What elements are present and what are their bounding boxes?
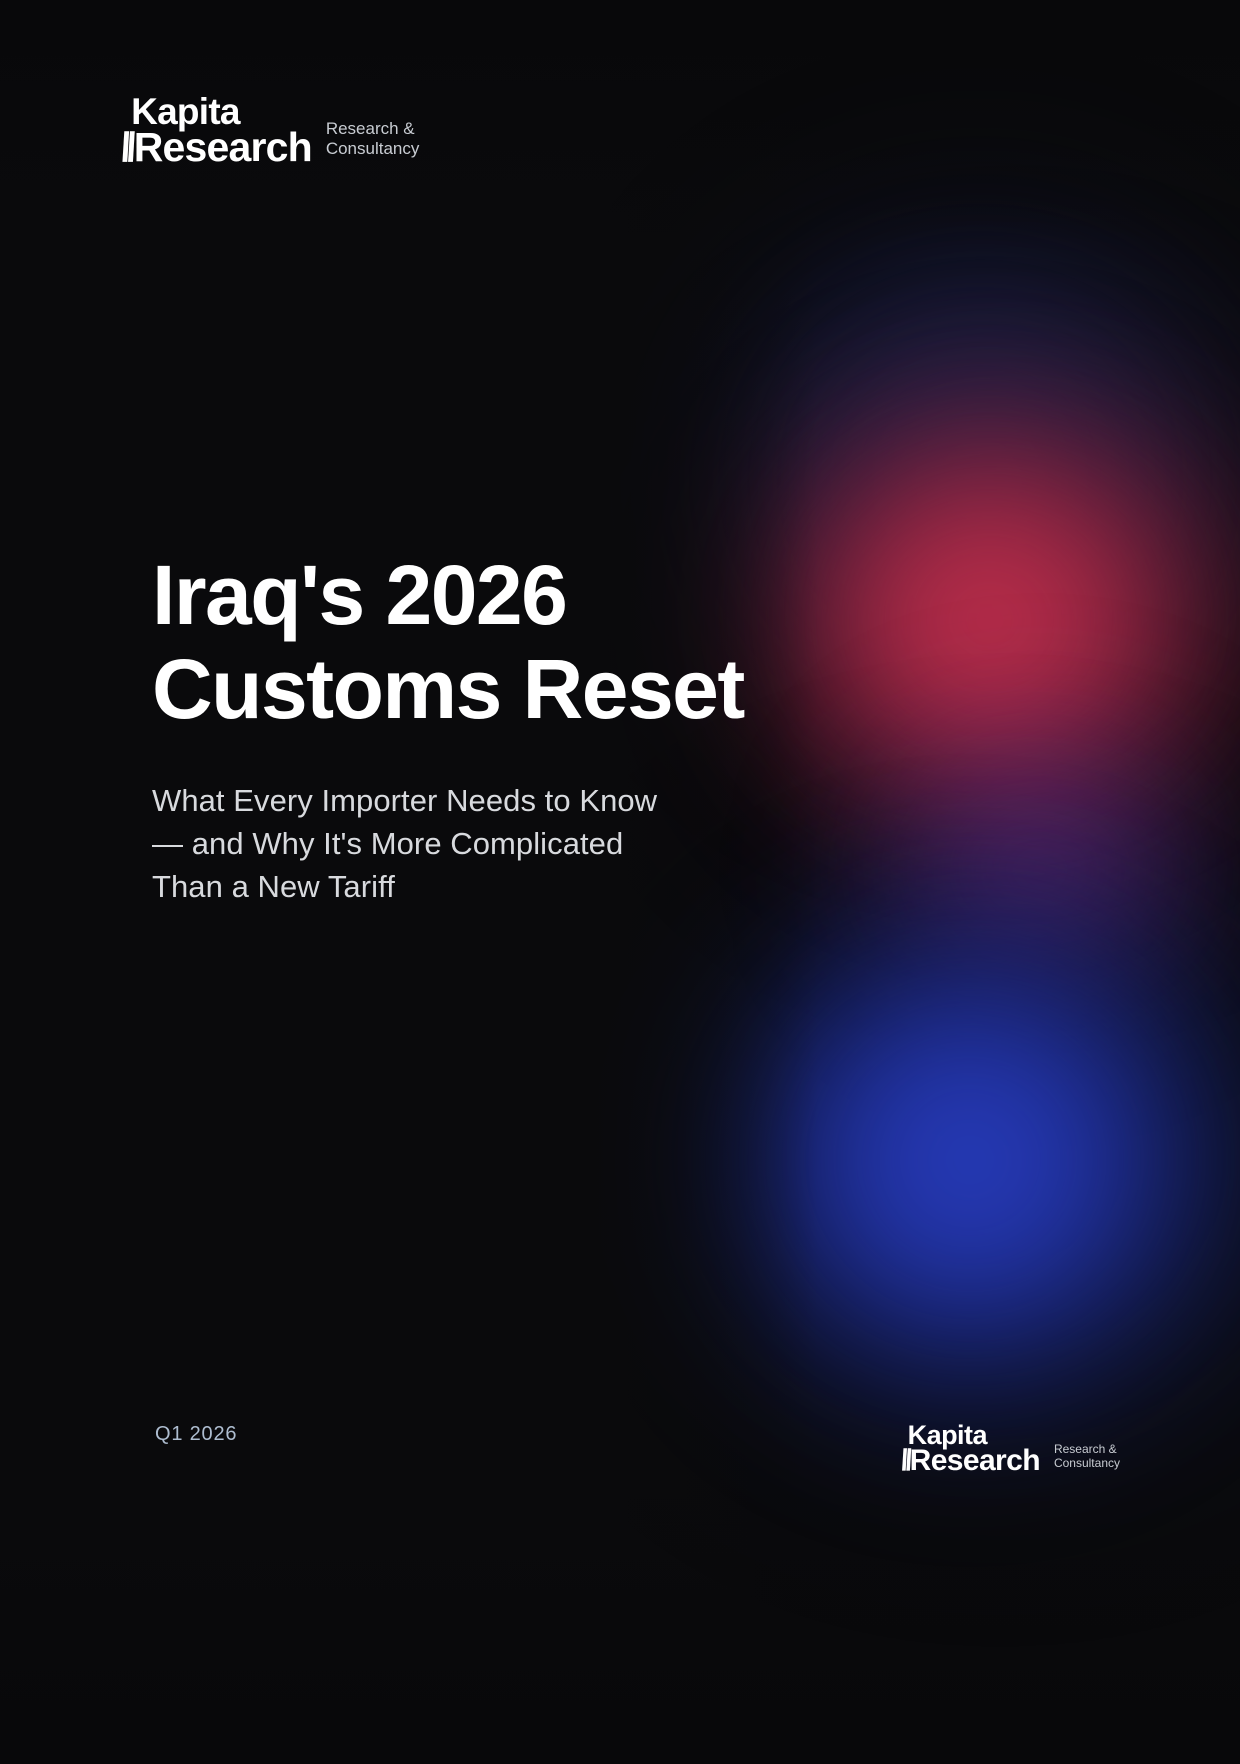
report-cover-page: Kapita \\Research Research & Consultancy… bbox=[0, 0, 1240, 1764]
footer-logo-wordmark: Kapita \\Research bbox=[900, 1424, 1040, 1474]
logo-research-row: \\Research bbox=[120, 129, 312, 165]
cover-title-block: Iraq's 2026 Customs Reset What Every Imp… bbox=[152, 548, 892, 908]
page-subtitle-line-3: Than a New Tariff bbox=[152, 866, 792, 909]
logo-research-text: Research bbox=[134, 129, 312, 165]
footer-brand-logo: Kapita \\Research Research & Consultancy bbox=[900, 1424, 1120, 1474]
footer-logo-tagline: Research & Consultancy bbox=[1054, 1442, 1120, 1474]
cover-subtitle-block: What Every Importer Needs to Know — and … bbox=[152, 780, 792, 908]
page-subtitle-line-2: — and Why It's More Complicated bbox=[152, 823, 792, 866]
header-logo-tagline: Research & Consultancy bbox=[326, 119, 420, 165]
logo-double-slash-icon: \\ bbox=[116, 129, 136, 165]
page-title-line-2: Customs Reset bbox=[152, 642, 892, 736]
header-brand-logo: Kapita \\Research Research & Consultancy bbox=[120, 96, 419, 165]
footer-logo-research-row: \\Research bbox=[900, 1448, 1040, 1474]
page-title-line-1: Iraq's 2026 bbox=[152, 548, 892, 642]
footer-logo-research-text: Research bbox=[910, 1448, 1040, 1474]
page-subtitle-line-1: What Every Importer Needs to Know bbox=[152, 780, 792, 823]
publication-date-label: Q1 2026 bbox=[155, 1423, 237, 1446]
header-logo-wordmark: Kapita \\Research bbox=[120, 96, 312, 165]
cover-content: Kapita \\Research Research & Consultancy… bbox=[0, 0, 1240, 1764]
